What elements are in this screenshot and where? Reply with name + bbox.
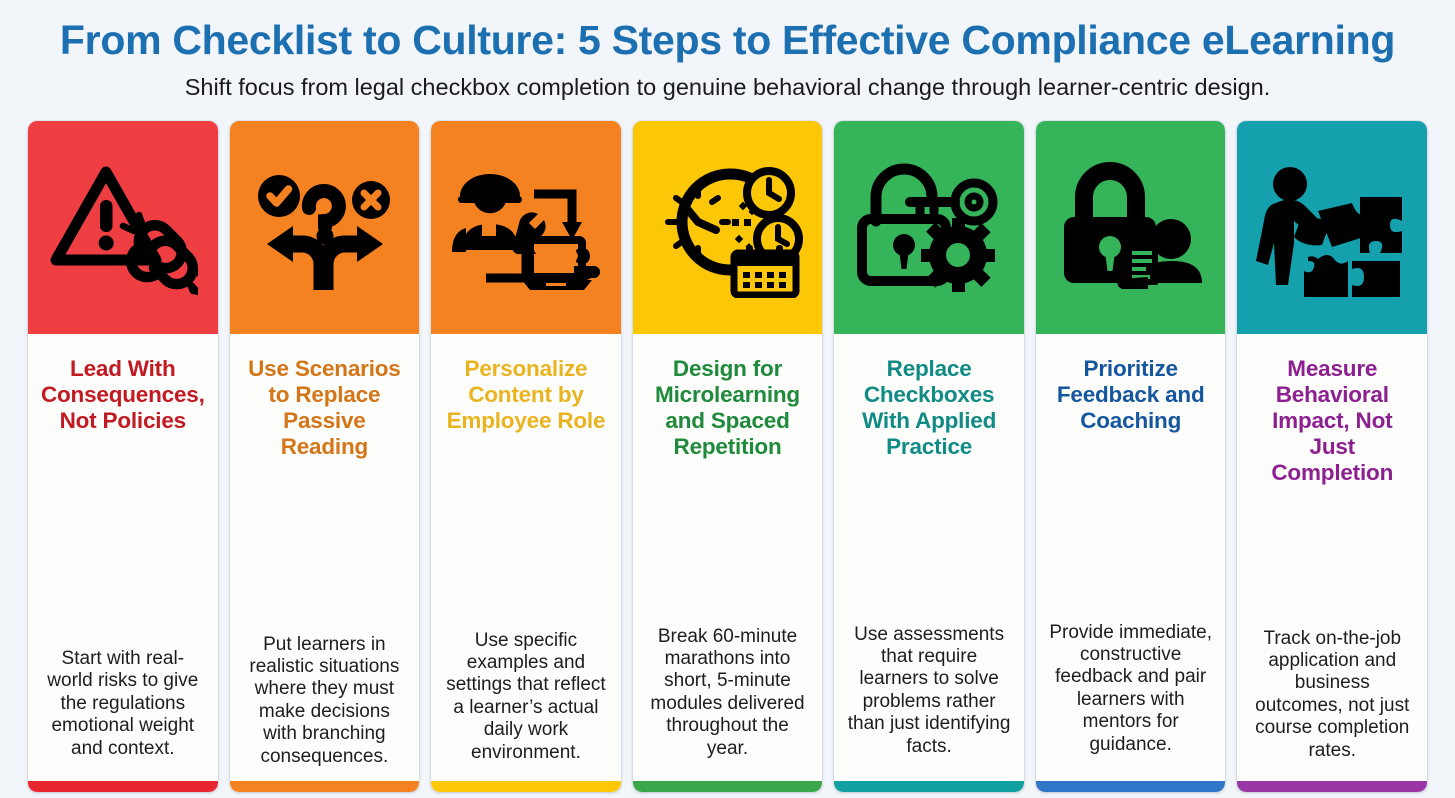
card-description: Use specific examples and settings that …	[440, 630, 612, 764]
card-icon-header	[1237, 121, 1427, 334]
card-icon-header	[431, 121, 621, 334]
card-icon-header	[230, 121, 420, 334]
worker-laptop-cycle-icon	[448, 158, 603, 298]
card-design-microlearning[interactable]: Design for Microlearning and Spaced Repe…	[633, 121, 823, 792]
page-title: From Checklist to Culture: 5 Steps to Ef…	[20, 18, 1435, 62]
card-description: Use assessments that require learners to…	[843, 624, 1015, 758]
card-accent-bar	[834, 781, 1024, 792]
card-prioritize-feedback[interactable]: Prioritize Feedback and Coaching Provide…	[1036, 121, 1226, 792]
card-heading: Measure Behavioral Impact, Not Just Comp…	[1246, 356, 1418, 485]
card-heading: Use Scenarios to Replace Passive Reading	[239, 356, 411, 460]
card-description: Provide immediate, constructive feedback…	[1045, 622, 1217, 756]
clock-calendar-spaced-icon	[652, 158, 804, 298]
card-accent-bar	[28, 781, 218, 792]
card-heading: Design for Microlearning and Spaced Repe…	[642, 356, 814, 460]
card-heading: Personalize Content by Employee Role	[440, 356, 612, 434]
card-measure-behavioral-impact[interactable]: Measure Behavioral Impact, Not Just Comp…	[1237, 121, 1427, 792]
card-description: Track on-the-job application and busines…	[1246, 628, 1418, 762]
branching-decision-icon	[249, 160, 399, 295]
warning-broken-chain-icon	[48, 160, 198, 295]
card-body: Personalize Content by Employee Role Use…	[431, 334, 621, 792]
card-body: Lead With Consequences, Not Policies Sta…	[28, 334, 218, 792]
card-description: Put learners in realistic situations whe…	[239, 634, 411, 768]
card-icon-header	[834, 121, 1024, 334]
card-body: Measure Behavioral Impact, Not Just Comp…	[1237, 334, 1427, 792]
locked-padlock-person-report-icon	[1056, 159, 1206, 297]
infographic-page: From Checklist to Culture: 5 Steps to Ef…	[0, 0, 1455, 798]
card-heading: Prioritize Feedback and Coaching	[1045, 356, 1217, 434]
header: From Checklist to Culture: 5 Steps to Ef…	[0, 0, 1455, 101]
card-icon-header	[1036, 121, 1226, 334]
card-heading: Lead With Consequences, Not Policies	[37, 356, 209, 434]
unlocked-padlock-key-gear-icon	[854, 159, 1004, 297]
card-description: Start with real-world risks to give the …	[37, 648, 209, 760]
cards-row: Lead With Consequences, Not Policies Sta…	[0, 101, 1455, 798]
card-heading: Replace Checkboxes With Applied Practice	[843, 356, 1015, 460]
card-lead-with-consequences[interactable]: Lead With Consequences, Not Policies Sta…	[28, 121, 218, 792]
card-personalize-content[interactable]: Personalize Content by Employee Role Use…	[431, 121, 621, 792]
card-body: Use Scenarios to Replace Passive Reading…	[230, 334, 420, 792]
card-icon-header	[28, 121, 218, 334]
card-body: Design for Microlearning and Spaced Repe…	[633, 334, 823, 792]
card-description: Break 60-minute marathons into short, 5-…	[642, 626, 814, 760]
card-accent-bar	[431, 781, 621, 792]
card-accent-bar	[1036, 781, 1226, 792]
card-body: Replace Checkboxes With Applied Practice…	[834, 334, 1024, 792]
card-icon-header	[633, 121, 823, 334]
page-subtitle: Shift focus from legal checkbox completi…	[20, 73, 1435, 101]
person-assembling-puzzle-icon	[1256, 159, 1408, 297]
card-body: Prioritize Feedback and Coaching Provide…	[1036, 334, 1226, 792]
card-use-scenarios[interactable]: Use Scenarios to Replace Passive Reading…	[230, 121, 420, 792]
card-accent-bar	[1237, 781, 1427, 792]
card-accent-bar	[230, 781, 420, 792]
card-accent-bar	[633, 781, 823, 792]
card-replace-checkboxes[interactable]: Replace Checkboxes With Applied Practice…	[834, 121, 1024, 792]
